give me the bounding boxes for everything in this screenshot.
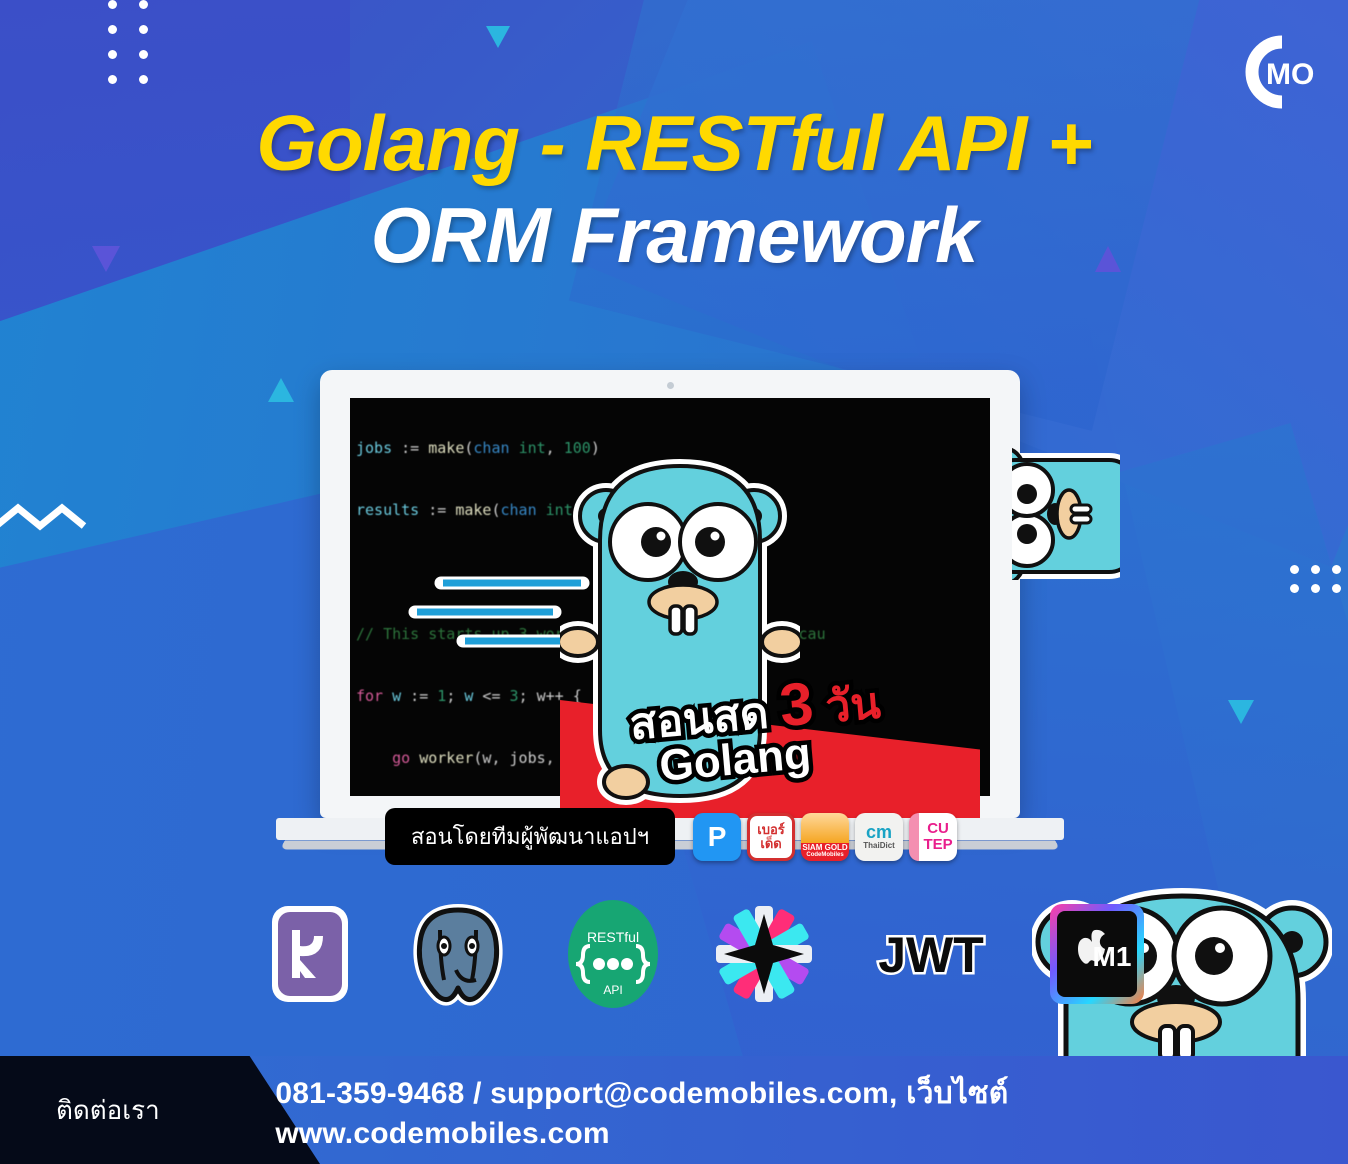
triangle-up-icon (268, 378, 294, 402)
jwt-logo: JWT (866, 918, 996, 990)
dot-grid-top-left-icon (108, 0, 148, 84)
badge-days: 3 (777, 669, 816, 739)
footer-content: ติดต่อเรา 081-359-9468 / support@codemob… (0, 1056, 1348, 1164)
restful-label: RESTful (587, 929, 639, 945)
thaidict-app-icon[interactable]: cm ThaiDict (855, 813, 903, 861)
webcam-icon (667, 382, 674, 389)
course-badge: สอนสด 3 วัน Golang (607, 636, 938, 803)
cutep-app-icon[interactable]: CU TEP (909, 813, 957, 861)
svg-text:MO: MO (1266, 58, 1314, 91)
triangle-down-small-icon (486, 26, 510, 48)
berdet-app-icon[interactable]: เบอร์ เด็ด (747, 813, 795, 861)
proud-app-icon[interactable]: P (693, 813, 741, 861)
restful-api-logo: RESTful API (564, 898, 662, 1010)
postgresql-logo (404, 900, 512, 1008)
partner-apps-row: สอนโดยทีมผู้พัฒนาแอปฯ P เบอร์ เด็ด SIAM … (385, 808, 957, 865)
page-title: Golang - RESTful API + ORM Framework (0, 104, 1348, 274)
badge-days-unit: วัน (824, 679, 883, 733)
tech-logo-row: RESTful API (268, 898, 1146, 1010)
zigzag-icon (0, 498, 116, 538)
headline-line-2: ORM Framework (0, 196, 1348, 274)
apple-m1-logo: M1 (1048, 902, 1146, 1006)
heroku-logo (268, 902, 352, 1006)
contact-label: ติดต่อเรา (56, 1090, 275, 1131)
m1-label: M1 (1093, 941, 1132, 972)
cmo-logo: MO (1222, 34, 1326, 110)
jwt-label: JWT (878, 927, 984, 983)
dot-grid-right-icon (1290, 565, 1340, 592)
siam-gold-app-icon[interactable]: SIAM GOLD CodeMobiles (801, 813, 849, 861)
app-icon-list: P เบอร์ เด็ด SIAM GOLD CodeMobiles cm Th… (693, 813, 957, 861)
triangle-down-cyan-icon (1228, 700, 1254, 724)
taught-by-label: สอนโดยทีมผู้พัฒนาแอปฯ (385, 808, 675, 865)
headline-line-1: Golang - RESTful API + (0, 104, 1348, 182)
contact-info: 081-359-9468 / support@codemobiles.com, … (275, 1070, 1348, 1151)
insomnia-logo (714, 904, 814, 1004)
api-label: API (603, 983, 622, 997)
go-gopher-peek-right (1012, 425, 1120, 580)
promo-banner: MO Golang - RESTful API + ORM Framework … (0, 0, 1348, 1164)
